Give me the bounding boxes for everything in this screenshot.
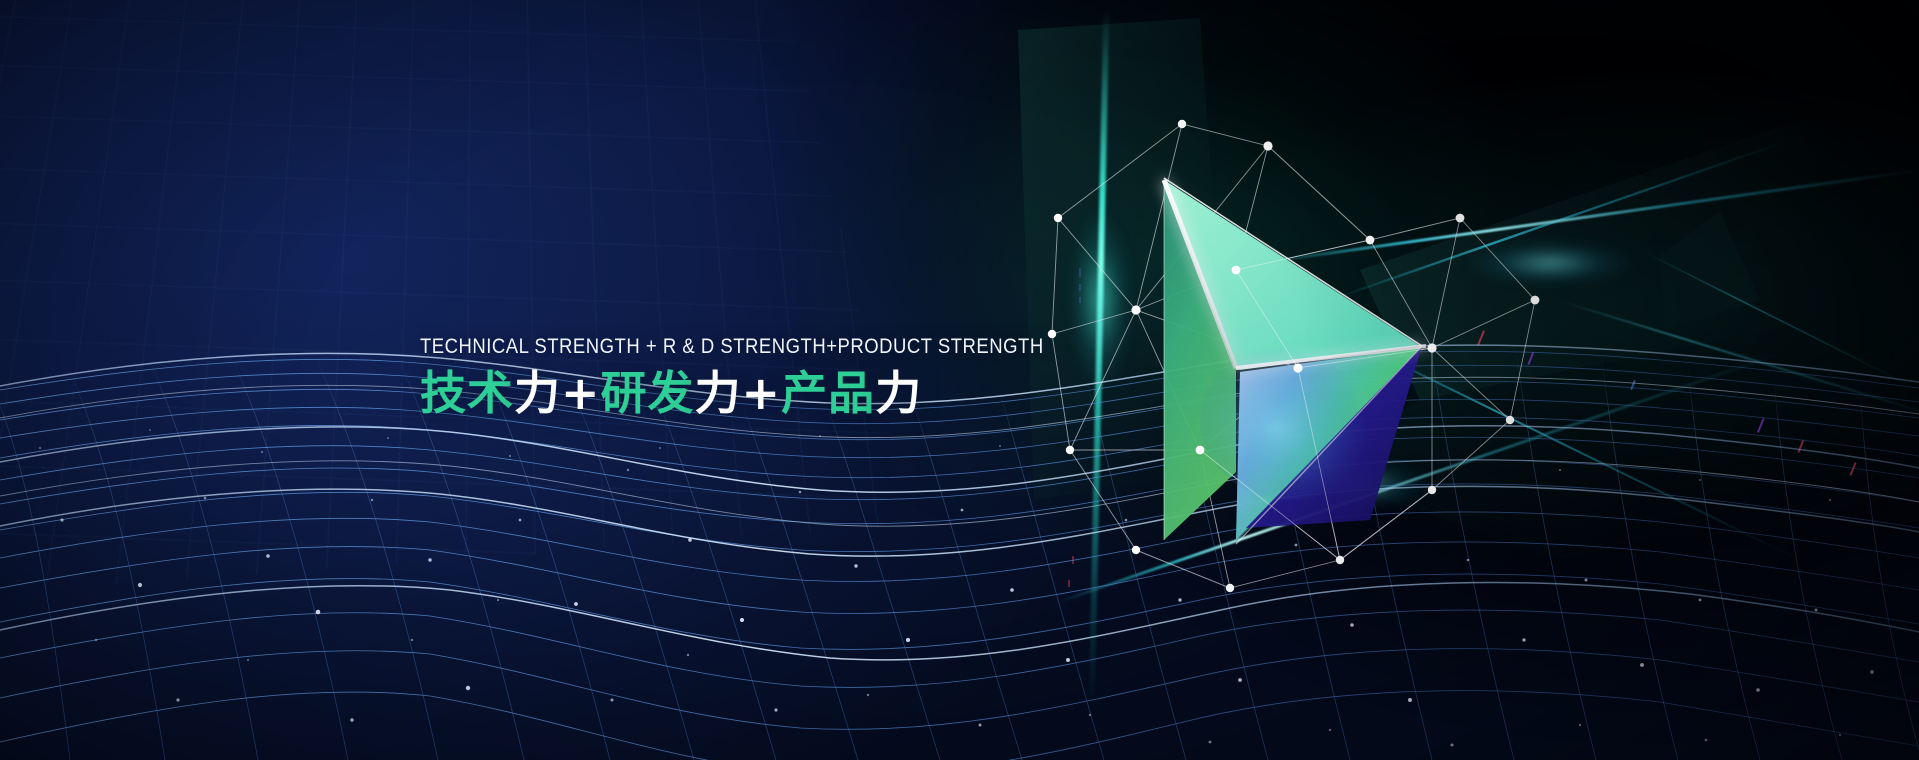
headline-cn-seg-5: + bbox=[742, 366, 782, 420]
headline-cn-seg-3: 研发 bbox=[601, 366, 695, 420]
headline-cn-seg-4: 力 bbox=[695, 366, 742, 420]
headline-cn-seg-6: 产品 bbox=[781, 366, 875, 420]
headline-cn-seg-1: 力 bbox=[514, 366, 561, 420]
headline-block: TECHNICAL STRENGTH + R & D STRENGTH+PROD… bbox=[420, 336, 1060, 419]
headline-cn-seg-0: 技术 bbox=[420, 366, 514, 420]
headline-english: TECHNICAL STRENGTH + R & D STRENGTH+PROD… bbox=[420, 336, 970, 358]
headline-cn-seg-7: 力 bbox=[875, 366, 922, 420]
headline-chinese: 技术力+研发力+产品力 bbox=[420, 368, 1060, 420]
headline-cn-seg-2: + bbox=[561, 366, 601, 420]
hero-banner: TECHNICAL STRENGTH + R & D STRENGTH+PROD… bbox=[0, 0, 1919, 760]
